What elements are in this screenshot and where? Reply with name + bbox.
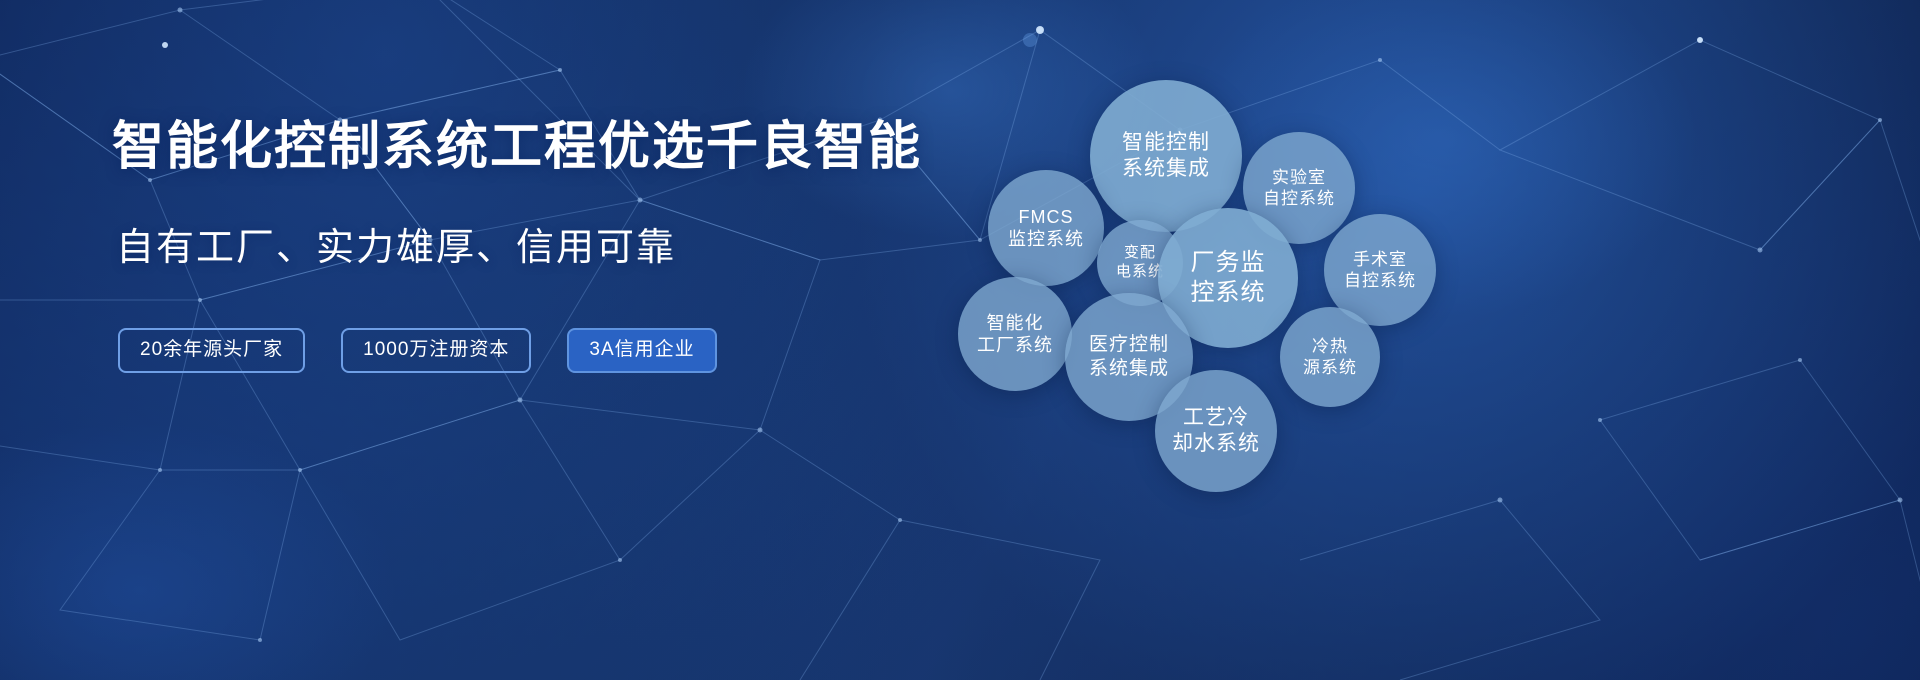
bubble-line-1: 工艺冷 bbox=[1172, 405, 1260, 431]
hero-banner: 智能化控制系统工程优选千良智能 自有工厂、实力雄厚、信用可靠 20余年源头厂家 … bbox=[0, 0, 1920, 680]
hero-copy: 智能化控制系统工程优选千良智能 自有工厂、实力雄厚、信用可靠 20余年源头厂家 … bbox=[112, 118, 952, 373]
bubble-line-1: 冷热 bbox=[1303, 336, 1357, 357]
bubble-line-2: 系统集成 bbox=[1122, 156, 1210, 182]
bubble-line-1: 手术室 bbox=[1344, 249, 1416, 270]
bubble-line-2: 源系统 bbox=[1303, 357, 1357, 378]
service-bubble-cluster: 智能控制 系统集成 实验室 自控系统 FMCS 监控系统 变配 电系统 bbox=[940, 40, 1500, 500]
glow-bottom-left bbox=[0, 420, 400, 680]
bubble-heating-cooling-source[interactable]: 冷热 源系统 bbox=[1280, 307, 1380, 407]
badge-capital[interactable]: 1000万注册资本 bbox=[341, 328, 531, 373]
bubble-line-1: 实验室 bbox=[1263, 167, 1335, 188]
bubble-line-2: 电系统 bbox=[1116, 263, 1164, 282]
bubble-line-2: 监控系统 bbox=[1008, 228, 1084, 251]
bubble-process-cooling-water[interactable]: 工艺冷 却水系统 bbox=[1155, 370, 1277, 492]
badge-credit-rating[interactable]: 3A信用企业 bbox=[567, 328, 716, 373]
badge-years[interactable]: 20余年源头厂家 bbox=[118, 328, 305, 373]
bubble-line-1: FMCS bbox=[1008, 206, 1084, 229]
bubble-line-2: 系统集成 bbox=[1089, 357, 1169, 381]
bubble-line-2: 却水系统 bbox=[1172, 431, 1260, 457]
bubble-line-2: 自控系统 bbox=[1263, 188, 1335, 209]
page-title: 智能化控制系统工程优选千良智能 bbox=[112, 118, 952, 176]
bubble-line-2: 控系统 bbox=[1191, 278, 1266, 308]
bubble-line-1: 厂务监 bbox=[1191, 248, 1266, 278]
hero-subtitle: 自有工厂、实力雄厚、信用可靠 bbox=[116, 226, 952, 272]
bubble-line-2: 自控系统 bbox=[1344, 270, 1416, 291]
bubble-smart-factory[interactable]: 智能化 工厂系统 bbox=[958, 277, 1072, 391]
bubble-line-2: 工厂系统 bbox=[977, 334, 1053, 357]
bubble-line-1: 变配 bbox=[1116, 244, 1164, 263]
bubble-line-1: 智能控制 bbox=[1122, 130, 1210, 156]
bubble-line-1: 医疗控制 bbox=[1089, 333, 1169, 357]
badge-list: 20余年源头厂家 1000万注册资本 3A信用企业 bbox=[118, 328, 952, 373]
bubble-fmcs-monitoring[interactable]: FMCS 监控系统 bbox=[988, 170, 1104, 286]
bubble-line-1: 智能化 bbox=[977, 312, 1053, 335]
